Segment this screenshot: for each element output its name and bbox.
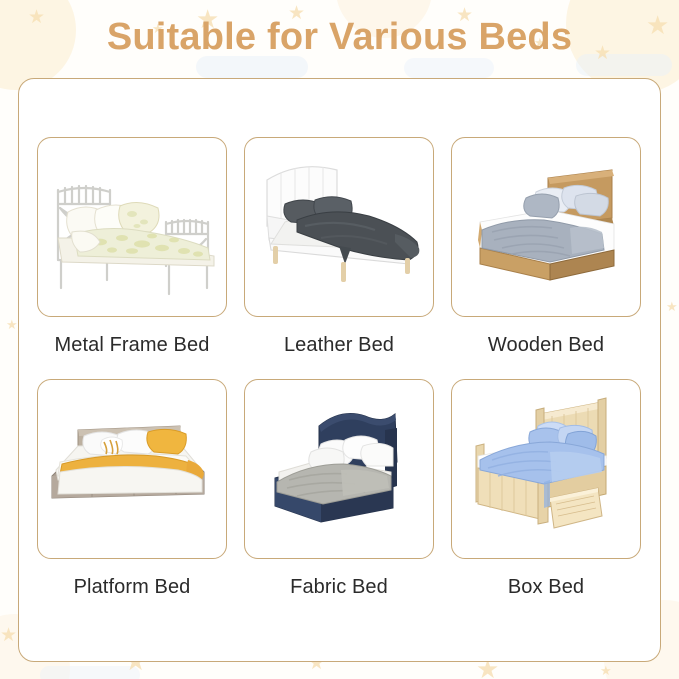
bed-card-label: Fabric Bed <box>244 576 434 599</box>
box-bed-photo <box>452 380 641 559</box>
cloud-shape <box>196 56 308 78</box>
poster-root: ★ ★ ★ ★ ★ ★ ★ ★ ★ ★ ★ ★ ★ ★ ★ Suitable f… <box>0 0 679 679</box>
grid-cell: Metal Frame Bed <box>37 137 227 357</box>
grid-cell: Wooden Bed <box>451 137 641 357</box>
bed-card-platform-bed[interactable] <box>37 379 227 559</box>
star-icon: ★ <box>666 300 678 313</box>
bed-card-fabric-bed[interactable] <box>244 379 434 559</box>
wooden-bed-photo <box>452 138 641 317</box>
platform-bed-photo <box>38 380 227 559</box>
bed-card-label: Leather Bed <box>244 334 434 357</box>
page-title: Suitable for Various Beds <box>0 16 679 59</box>
bed-card-metal-frame-bed[interactable] <box>37 137 227 317</box>
bed-card-label: Wooden Bed <box>451 334 641 357</box>
grid-cell: Fabric Bed <box>244 379 434 599</box>
bed-card-label: Platform Bed <box>37 576 227 599</box>
grid-cell: Platform Bed <box>37 379 227 599</box>
bed-card-box-bed[interactable] <box>451 379 641 559</box>
cloud-shape <box>404 58 494 78</box>
star-icon: ★ <box>600 664 612 677</box>
cloud-shape <box>40 666 140 679</box>
grid-cell: Box Bed <box>451 379 641 599</box>
grid-cell: Leather Bed <box>244 137 434 357</box>
star-icon: ★ <box>0 626 17 645</box>
bed-card-label: Box Bed <box>451 576 641 599</box>
leather-bed-photo <box>245 138 434 317</box>
metal-frame-bed-photo <box>38 138 227 317</box>
bed-card-leather-bed[interactable] <box>244 137 434 317</box>
fabric-bed-photo <box>245 380 434 559</box>
bed-card-label: Metal Frame Bed <box>37 334 227 357</box>
bed-type-grid: Metal Frame Bed <box>37 137 642 599</box>
bed-card-wooden-bed[interactable] <box>451 137 641 317</box>
star-icon: ★ <box>6 318 18 331</box>
